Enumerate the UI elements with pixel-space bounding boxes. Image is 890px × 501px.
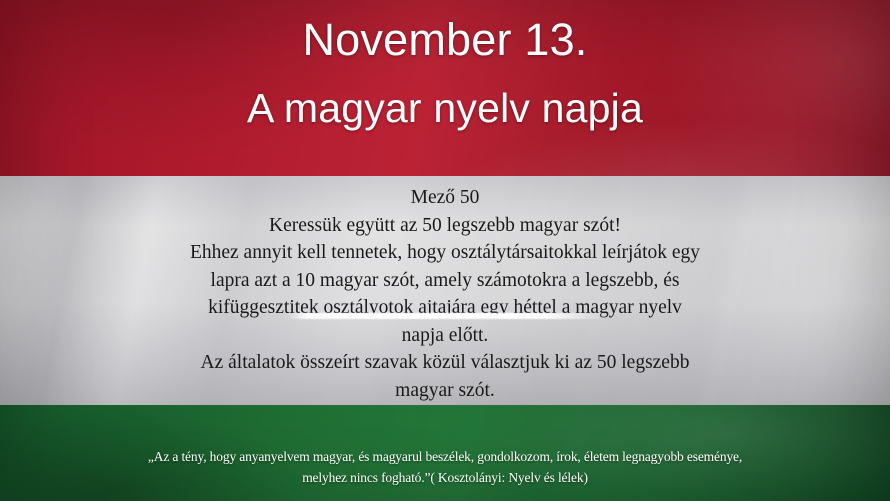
presentation-slide: November 13. A magyar nyelv napja Mező 5… <box>0 0 890 501</box>
body-line-8: magyar szót. <box>50 377 840 405</box>
quote-line-2: melyhez nincs fogható.”( Kosztolányi: Ny… <box>30 467 860 488</box>
body-line-1: Mező 50 <box>50 184 840 212</box>
quote-block: „Az a tény, hogy anyanyelvem magyar, és … <box>30 446 860 488</box>
body-line-4: lapra azt a 10 magyar szót, amely számot… <box>50 267 840 295</box>
slide-title: November 13. <box>0 16 890 63</box>
body-line-2: Keressük együtt az 50 legszebb magyar sz… <box>50 212 840 240</box>
body-line-7: Az általatok összeírt szavak közül válas… <box>50 349 840 377</box>
body-text-block: Mező 50 Keressük együtt az 50 legszebb m… <box>50 184 840 404</box>
highlight-underline-stroke <box>287 313 611 319</box>
body-line-3: Ehhez annyit kell tennetek, hogy osztály… <box>50 239 840 267</box>
title-block: November 13. A magyar nyelv napja <box>0 16 890 130</box>
body-line-6: napja előtt. <box>50 322 840 350</box>
slide-subtitle: A magyar nyelv napja <box>0 87 890 130</box>
quote-line-1: „Az a tény, hogy anyanyelvem magyar, és … <box>30 446 860 467</box>
